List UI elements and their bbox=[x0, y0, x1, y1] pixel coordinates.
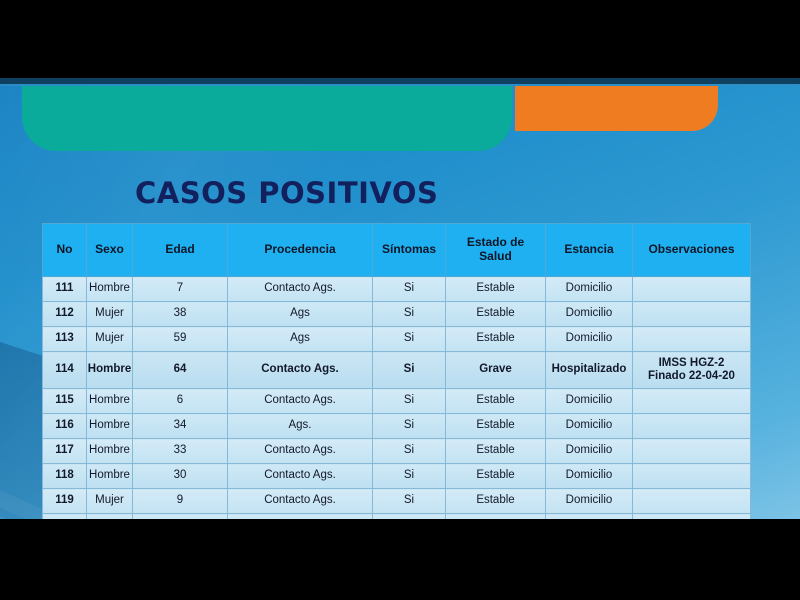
cell-sintomas: Si bbox=[373, 389, 446, 414]
cell-no: 113 bbox=[43, 327, 87, 352]
cell-observaciones bbox=[633, 327, 751, 352]
cell-procedencia: Contacto Ags. bbox=[228, 277, 373, 302]
table-row: 115Hombre6Contacto Ags.SiEstableDomicili… bbox=[43, 389, 751, 414]
cell-sexo: Hombre bbox=[87, 439, 133, 464]
cell-estado-salud: Estable bbox=[446, 389, 546, 414]
cell-estado-salud: Estable bbox=[446, 414, 546, 439]
cell-estado-salud: Estable bbox=[446, 327, 546, 352]
cell-observaciones bbox=[633, 489, 751, 514]
header-estado-line2: Salud bbox=[479, 249, 512, 263]
cell-estado-salud: Estable bbox=[446, 302, 546, 327]
header-estado-line1: Estado de bbox=[467, 235, 524, 249]
cell-edad: 7 bbox=[133, 277, 228, 302]
cell-estancia: Domicilio bbox=[546, 389, 633, 414]
cell-edad: 6 bbox=[133, 389, 228, 414]
cell-procedencia: Ags. bbox=[228, 414, 373, 439]
cell-estado-salud: Estable bbox=[446, 489, 546, 514]
cell-estancia: Domicilio bbox=[546, 302, 633, 327]
table-row: 118Hombre30Contacto Ags.SiEstableDomicil… bbox=[43, 464, 751, 489]
cell-edad: 9 bbox=[133, 489, 228, 514]
cell-observaciones bbox=[633, 302, 751, 327]
cell-no: 112 bbox=[43, 302, 87, 327]
table-row: 111Hombre7Contacto Ags.SiEstableDomicili… bbox=[43, 277, 751, 302]
table-row: 113Mujer59AgsSiEstableDomicilio bbox=[43, 327, 751, 352]
cell-estancia: Domicilio bbox=[546, 464, 633, 489]
cell-sintomas: Si bbox=[373, 439, 446, 464]
cell-observaciones bbox=[633, 514, 751, 520]
table-row: 117Hombre33Contacto Ags.SiEstableDomicil… bbox=[43, 439, 751, 464]
cell-edad: 34 bbox=[133, 414, 228, 439]
cell-sexo: Mujer bbox=[87, 327, 133, 352]
cell-procedencia: Ags bbox=[228, 327, 373, 352]
cell-sintomas: Si bbox=[373, 277, 446, 302]
cell-estado-salud: Grave bbox=[446, 352, 546, 389]
cell-estado-salud: Estable bbox=[446, 514, 546, 520]
cell-procedencia: Contacto Ags. bbox=[228, 389, 373, 414]
cell-procedencia: Contacto Ags. bbox=[228, 439, 373, 464]
cell-no: 115 bbox=[43, 389, 87, 414]
observacion-line1: IMSS HGZ-2 bbox=[633, 357, 750, 370]
cell-estancia: Hospitalizado bbox=[546, 352, 633, 389]
cell-observaciones bbox=[633, 389, 751, 414]
teal-title-banner bbox=[22, 86, 512, 151]
cell-sintomas: Si bbox=[373, 302, 446, 327]
cell-observaciones: IMSS HGZ-2Finado 22-04-20 bbox=[633, 352, 751, 389]
cases-table: No Sexo Edad Procedencia Síntomas Estado… bbox=[42, 223, 751, 519]
column-header-observaciones: Observaciones bbox=[633, 224, 751, 277]
table-row: 114Hombre64Contacto Ags.SiGraveHospitali… bbox=[43, 352, 751, 389]
cell-no: 114 bbox=[43, 352, 87, 389]
cell-sexo: Hombre bbox=[87, 389, 133, 414]
table-row: 116Hombre34Ags.SiEstableDomicilio bbox=[43, 414, 751, 439]
cell-edad: 30 bbox=[133, 464, 228, 489]
cell-estancia: Domicilio bbox=[546, 277, 633, 302]
cell-sexo: Hombre bbox=[87, 277, 133, 302]
orange-accent-banner bbox=[515, 86, 718, 131]
column-header-sintomas: Síntomas bbox=[373, 224, 446, 277]
cell-sexo: Mujer bbox=[87, 489, 133, 514]
cell-observaciones bbox=[633, 464, 751, 489]
cell-procedencia: Contacto Ags. bbox=[228, 489, 373, 514]
cell-estancia: Domicilio bbox=[546, 414, 633, 439]
presentation-slide: CASOS POSITIVOS No Sexo Edad Procedencia… bbox=[0, 78, 800, 519]
table-header: No Sexo Edad Procedencia Síntomas Estado… bbox=[43, 224, 751, 277]
cell-no: 118 bbox=[43, 464, 87, 489]
cell-estado-salud: Estable bbox=[446, 464, 546, 489]
cell-edad: 38 bbox=[133, 302, 228, 327]
cell-procedencia: Contacto Ags. bbox=[228, 514, 373, 520]
cell-edad: 27 bbox=[133, 514, 228, 520]
cell-estancia: Domicilio bbox=[546, 327, 633, 352]
column-header-edad: Edad bbox=[133, 224, 228, 277]
cell-observaciones bbox=[633, 414, 751, 439]
cell-edad: 59 bbox=[133, 327, 228, 352]
cell-procedencia: Contacto Ags. bbox=[228, 352, 373, 389]
cell-edad: 64 bbox=[133, 352, 228, 389]
cell-no: 120 bbox=[43, 514, 87, 520]
table-row: 120Mujer27Contacto Ags.SiEstableDomicili… bbox=[43, 514, 751, 520]
cell-sexo: Mujer bbox=[87, 514, 133, 520]
cell-estado-salud: Estable bbox=[446, 439, 546, 464]
cell-sexo: Hombre bbox=[87, 464, 133, 489]
cell-sintomas: Si bbox=[373, 327, 446, 352]
cell-sintomas: Si bbox=[373, 514, 446, 520]
observacion-line2: Finado 22-04-20 bbox=[633, 370, 750, 383]
cell-no: 119 bbox=[43, 489, 87, 514]
table-row: 119Mujer9Contacto Ags.SiEstableDomicilio bbox=[43, 489, 751, 514]
column-header-estado-salud: Estado de Salud bbox=[446, 224, 546, 277]
page-title: CASOS POSITIVOS bbox=[135, 176, 438, 210]
column-header-procedencia: Procedencia bbox=[228, 224, 373, 277]
cell-observaciones bbox=[633, 439, 751, 464]
cell-procedencia: Contacto Ags. bbox=[228, 464, 373, 489]
cell-sintomas: Si bbox=[373, 489, 446, 514]
cell-edad: 33 bbox=[133, 439, 228, 464]
cell-estancia: Domicilio bbox=[546, 489, 633, 514]
screenshot-root: CASOS POSITIVOS No Sexo Edad Procedencia… bbox=[0, 0, 800, 600]
cases-table-wrapper: No Sexo Edad Procedencia Síntomas Estado… bbox=[42, 223, 750, 519]
cell-sexo: Hombre bbox=[87, 352, 133, 389]
table-header-row: No Sexo Edad Procedencia Síntomas Estado… bbox=[43, 224, 751, 277]
cell-no: 111 bbox=[43, 277, 87, 302]
column-header-sexo: Sexo bbox=[87, 224, 133, 277]
cell-no: 116 bbox=[43, 414, 87, 439]
cell-sexo: Hombre bbox=[87, 414, 133, 439]
cell-estancia: Domicilio bbox=[546, 439, 633, 464]
cell-estancia: Domicilio bbox=[546, 514, 633, 520]
cell-sintomas: Si bbox=[373, 352, 446, 389]
cell-sintomas: Si bbox=[373, 464, 446, 489]
cell-estado-salud: Estable bbox=[446, 277, 546, 302]
cell-procedencia: Ags bbox=[228, 302, 373, 327]
cell-observaciones bbox=[633, 277, 751, 302]
cell-sexo: Mujer bbox=[87, 302, 133, 327]
column-header-no: No bbox=[43, 224, 87, 277]
column-header-estancia: Estancia bbox=[546, 224, 633, 277]
table-row: 112Mujer38AgsSiEstableDomicilio bbox=[43, 302, 751, 327]
cell-sintomas: Si bbox=[373, 414, 446, 439]
cell-no: 117 bbox=[43, 439, 87, 464]
table-body: 111Hombre7Contacto Ags.SiEstableDomicili… bbox=[43, 277, 751, 520]
